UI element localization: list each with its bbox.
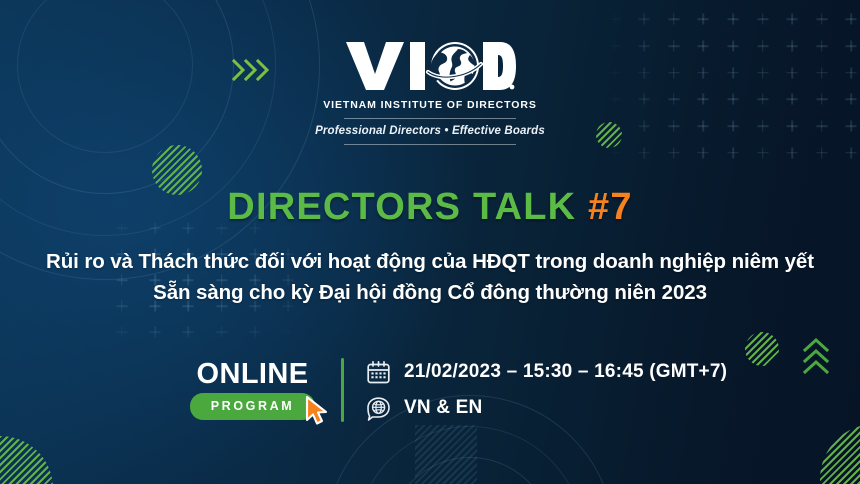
logo-divider-top <box>344 118 516 119</box>
detail-datetime: 21/02/2023 – 15:30 – 16:45 (GMT+7) <box>404 361 727 383</box>
subtitle-line-1: Rủi ro và Thách thức đối với hoạt động c… <box>46 250 814 273</box>
vertical-divider <box>341 358 344 422</box>
details-list: 21/02/2023 – 15:30 – 16:45 (GMT+7) VN & … <box>366 360 727 421</box>
striped-circle-bottom-right <box>745 332 779 366</box>
logo-divider-bottom <box>344 144 516 145</box>
detail-language: VN & EN <box>404 397 482 419</box>
badge-program-pill: PROGRAM <box>190 393 315 420</box>
event-subtitle: Rủi ro và Thách thức đối với hoạt động c… <box>0 246 860 308</box>
striped-circle-corner-bottom-right <box>820 424 860 484</box>
viod-logo: VIETNAM INSTITUTE OF DIRECTORS Professio… <box>0 36 860 145</box>
mouse-cursor-icon <box>303 395 331 425</box>
event-poster: VIETNAM INSTITUTE OF DIRECTORS Professio… <box>0 0 860 484</box>
detail-row-language: VN & EN <box>366 396 727 421</box>
striped-circle-bottom-center <box>415 425 477 484</box>
detail-row-datetime: 21/02/2023 – 15:30 – 16:45 (GMT+7) <box>366 360 727 385</box>
chevrons-up-icon <box>801 337 831 375</box>
striped-circle-corner-bottom-left <box>0 436 53 484</box>
calendar-icon <box>366 360 391 385</box>
title-edition: #7 <box>588 186 633 228</box>
online-program-badge: ONLINE PROGRAM <box>190 360 315 420</box>
viod-logotype-icon <box>344 36 516 94</box>
page-title: DIRECTORS TALK #7 <box>0 188 860 226</box>
subtitle-line-2: Sẵn sàng cho kỳ Đại hội đồng Cổ đông thư… <box>0 277 860 308</box>
badge-online-label: ONLINE <box>190 360 315 389</box>
title-main: DIRECTORS TALK <box>227 186 576 228</box>
brand-tagline: Professional Directors • Effective Board… <box>315 125 545 137</box>
badge-program-label: PROGRAM <box>211 399 294 413</box>
institute-name: VIETNAM INSTITUTE OF DIRECTORS <box>323 99 536 111</box>
event-details-bar: ONLINE PROGRAM <box>190 358 727 422</box>
globe-speech-bubble-icon <box>366 396 391 421</box>
